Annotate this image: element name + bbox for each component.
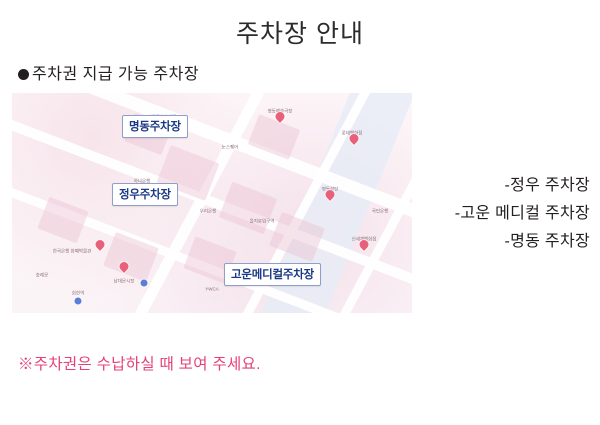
map-poi-label: 눈스퀘어 [222, 144, 239, 149]
map-poi-label: 우리은행 [200, 208, 217, 213]
list-item: -명동 주차장 [380, 228, 590, 256]
map-poi-label: 남대문시장 [114, 278, 135, 283]
page-title: 주차장 안내 [0, 14, 600, 50]
parking-lot-list: -정우 주차장 -고운 메디컬 주차장 -명동 주차장 [380, 172, 590, 256]
list-item: -고운 메디컬 주차장 [380, 200, 590, 228]
bullet-heading-text: 주차권 지급 가능 주차장 [32, 66, 199, 83]
map-poi-label: YWCA [205, 286, 219, 291]
bullet-heading: 주차권 지급 가능 주차장 [18, 60, 199, 84]
map-station-icon [75, 298, 82, 305]
map-poi-label: 회현역 [72, 290, 84, 295]
bullet-dot-icon [18, 69, 29, 80]
slide-page: 주차장 안내 주차권 지급 가능 주차장 서울중앙우체국 명동예술극장 롯데백화… [0, 0, 600, 425]
parking-map-image: 서울중앙우체국 명동예술극장 롯데백화점 눈스퀘어 명동성당 신세계백화점 우리… [12, 93, 412, 313]
map-station-icon [141, 280, 148, 287]
map-poi-label: 숭례문 [36, 272, 48, 277]
map-poi-label: 을지로입구역 [250, 218, 275, 223]
map-label-myeongdong-parking: 명동주차장 [122, 115, 188, 138]
map-poi-label: 한국은행 화폐박물관 [53, 248, 92, 253]
footnote-text: ※주차권은 수납하실 때 보여 주세요. [18, 352, 261, 374]
map-label-jeongwoo-parking: 정우주차장 [112, 183, 178, 206]
map-label-goun-medical-parking: 고운메디컬주차장 [224, 263, 321, 286]
list-item: -정우 주차장 [380, 172, 590, 200]
